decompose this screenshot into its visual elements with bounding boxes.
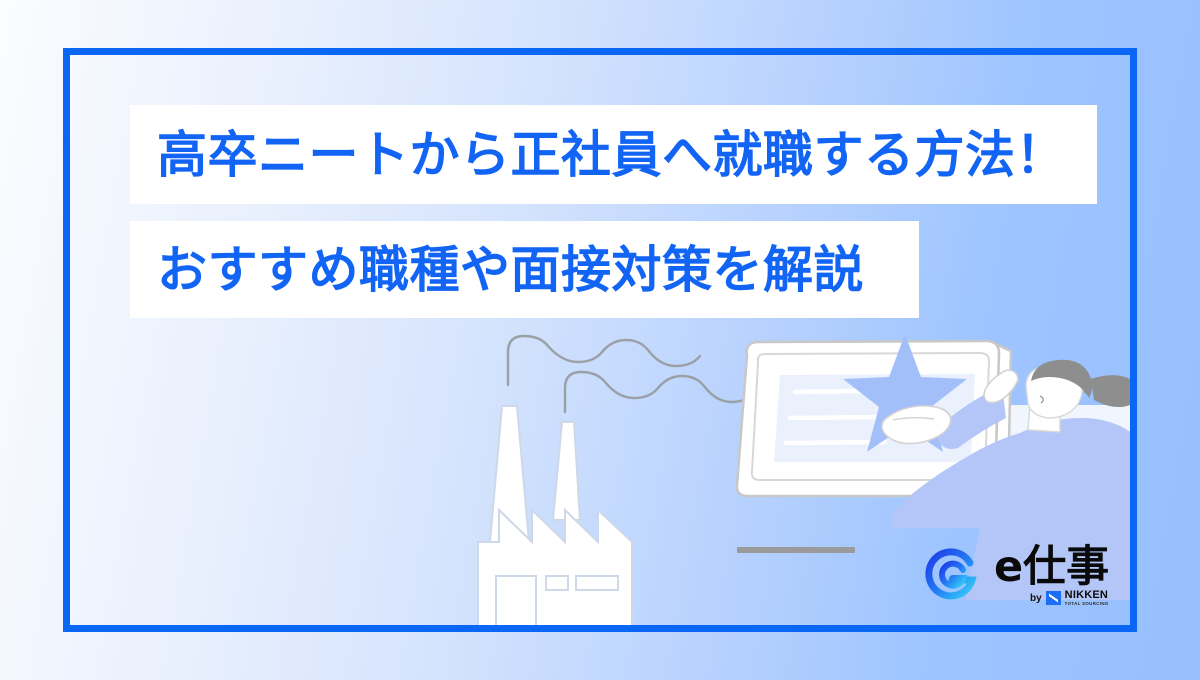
logo-wordmark: e仕事: [994, 544, 1109, 590]
e-shigoto-logo: e仕事 by NIKKEN TOTAL SOURCING: [922, 546, 1122, 610]
banner: 高卒ニートから正社員へ就職する方法！ おすすめ職種や面接対策を解説 e仕事 by: [0, 0, 1200, 680]
nikken-brand-name: NIKKEN: [1065, 590, 1109, 601]
e-circle-icon: [922, 546, 982, 606]
desk-line: [737, 547, 855, 553]
title-line-2-box: おすすめ職種や面接対策を解説: [130, 221, 919, 318]
page-title-line-2: おすすめ職種や面接対策を解説: [130, 245, 864, 295]
nikken-text: NIKKEN TOTAL SOURCING: [1065, 590, 1109, 606]
nikken-tagline: TOTAL SOURCING: [1065, 602, 1109, 606]
logo-byline: by NIKKEN TOTAL SOURCING: [1030, 590, 1109, 606]
page-title-line-1: 高卒ニートから正社員へ就職する方法！: [130, 130, 1066, 180]
nikken-badge-icon: [1046, 591, 1061, 605]
by-label: by: [1030, 593, 1042, 604]
factory-with-smokestacks: [478, 406, 632, 640]
smoke-wave-lines: [508, 336, 754, 412]
title-line-1-box: 高卒ニートから正社員へ就職する方法！: [130, 105, 1097, 204]
